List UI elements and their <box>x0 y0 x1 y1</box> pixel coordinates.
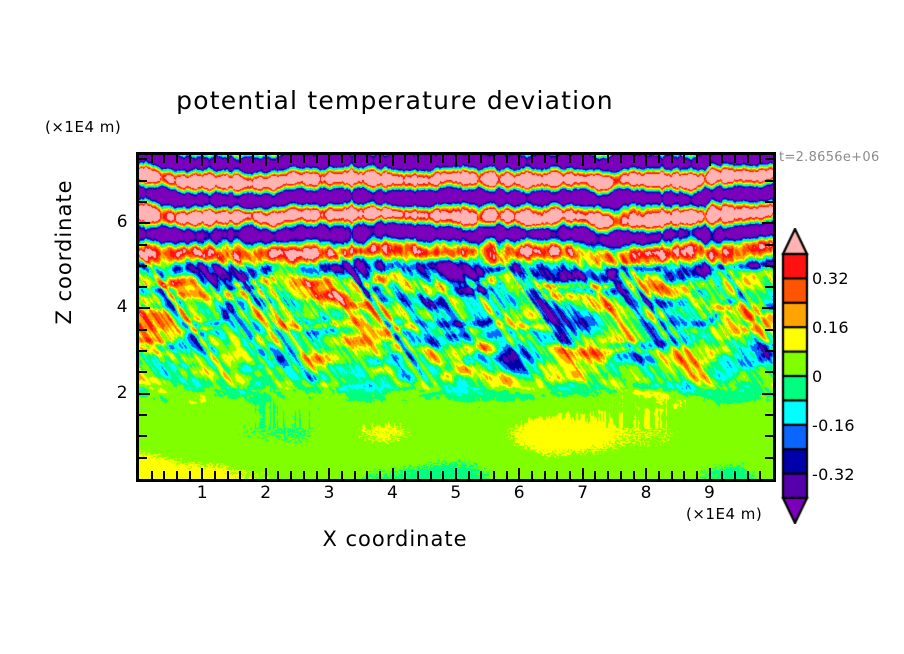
x-minor-tick <box>671 471 673 479</box>
x-top-tick <box>277 155 279 163</box>
x-major-tick <box>455 468 457 479</box>
x-top-tick <box>721 155 723 163</box>
x-minor-tick <box>683 471 685 479</box>
x-top-tick <box>303 155 305 163</box>
x-top-tick <box>265 155 267 166</box>
x-top-tick <box>671 155 673 163</box>
x-major-tick <box>709 468 711 479</box>
x-minor-tick <box>189 471 191 479</box>
x-top-tick <box>328 155 330 166</box>
x-tick-label: 5 <box>436 483 476 503</box>
x-top-tick <box>696 155 698 163</box>
x-top-tick <box>734 155 736 163</box>
x-top-tick <box>506 155 508 163</box>
y-right-tick <box>765 435 773 437</box>
x-tick-label: 8 <box>626 483 666 503</box>
x-minor-tick <box>417 471 419 479</box>
x-major-tick <box>265 468 267 479</box>
x-top-tick <box>404 155 406 163</box>
x-top-tick <box>645 155 647 166</box>
x-top-tick <box>354 155 356 163</box>
y-minor-tick <box>139 350 147 352</box>
x-major-tick <box>645 468 647 479</box>
figure-canvas: potential temperature deviation (×1E4 m)… <box>0 0 904 654</box>
x-top-tick <box>163 155 165 163</box>
x-top-tick <box>252 155 254 163</box>
x-minor-tick <box>696 471 698 479</box>
x-minor-tick <box>620 471 622 479</box>
x-top-tick <box>151 155 153 163</box>
x-top-tick <box>759 155 761 163</box>
y-minor-tick <box>139 180 147 182</box>
x-minor-tick <box>607 471 609 479</box>
colorbar-tick-label: 0.32 <box>812 269 849 288</box>
x-major-tick <box>518 468 520 479</box>
x-major-tick <box>392 468 394 479</box>
y-right-tick <box>765 350 773 352</box>
x-axis-title: X coordinate <box>0 527 790 551</box>
y-right-tick <box>765 457 773 459</box>
x-minor-tick <box>658 471 660 479</box>
x-top-tick <box>290 155 292 163</box>
colorbar-gradient <box>780 228 810 524</box>
x-top-tick <box>468 155 470 163</box>
x-minor-tick <box>176 471 178 479</box>
y-right-tick <box>765 371 773 373</box>
x-top-tick <box>201 155 203 166</box>
colorbar-tick-label: 0 <box>812 367 822 386</box>
x-minor-tick <box>354 471 356 479</box>
x-top-tick <box>582 155 584 166</box>
x-top-tick <box>214 155 216 163</box>
x-top-tick <box>341 155 343 163</box>
x-minor-tick <box>227 471 229 479</box>
x-minor-tick <box>303 471 305 479</box>
y-right-tick <box>765 286 773 288</box>
y-right-tick <box>765 329 773 331</box>
y-minor-tick <box>139 371 147 373</box>
x-minor-tick <box>721 471 723 479</box>
x-minor-tick <box>290 471 292 479</box>
x-top-tick <box>455 155 457 166</box>
x-minor-tick <box>366 471 368 479</box>
plot-area <box>136 152 776 482</box>
x-minor-tick <box>633 471 635 479</box>
x-major-tick <box>328 468 330 479</box>
x-top-tick <box>709 155 711 166</box>
x-minor-tick <box>442 471 444 479</box>
y-minor-tick <box>139 286 147 288</box>
x-top-tick <box>442 155 444 163</box>
x-top-tick <box>176 155 178 163</box>
colorbar <box>780 228 810 524</box>
x-top-tick <box>480 155 482 163</box>
y-axis-title: Z coordinate <box>52 152 76 352</box>
y-minor-tick <box>139 201 147 203</box>
x-top-tick <box>556 155 558 163</box>
x-tick-label: 1 <box>182 483 222 503</box>
y-tick-label: 2 <box>88 383 128 403</box>
x-minor-tick <box>569 471 571 479</box>
y-right-tick <box>765 180 773 182</box>
x-axis-unit-label: (×1E4 m) <box>686 505 762 523</box>
x-top-tick <box>239 155 241 163</box>
x-minor-tick <box>544 471 546 479</box>
x-top-tick <box>633 155 635 163</box>
x-minor-tick <box>430 471 432 479</box>
x-minor-tick <box>734 471 736 479</box>
y-tick-label: 6 <box>88 212 128 232</box>
x-minor-tick <box>556 471 558 479</box>
x-top-tick <box>189 155 191 163</box>
x-tick-label: 4 <box>373 483 413 503</box>
x-minor-tick <box>214 471 216 479</box>
x-top-tick <box>747 155 749 163</box>
y-right-tick <box>765 158 773 160</box>
y-minor-tick <box>139 435 147 437</box>
x-top-tick <box>316 155 318 163</box>
colorbar-tick-label: -0.32 <box>812 465 855 484</box>
y-right-tick <box>762 307 773 309</box>
y-major-tick <box>139 393 150 395</box>
y-right-tick <box>762 222 773 224</box>
x-top-tick <box>544 155 546 163</box>
y-minor-tick <box>139 457 147 459</box>
y-right-tick <box>765 265 773 267</box>
x-top-tick <box>607 155 609 163</box>
x-top-tick <box>683 155 685 163</box>
x-top-tick <box>493 155 495 163</box>
y-right-tick <box>765 201 773 203</box>
x-minor-tick <box>316 471 318 479</box>
x-minor-tick <box>379 471 381 479</box>
x-top-tick <box>417 155 419 163</box>
y-major-tick <box>139 222 150 224</box>
x-tick-label: 2 <box>246 483 286 503</box>
x-top-tick <box>392 155 394 166</box>
x-top-tick <box>620 155 622 163</box>
x-top-tick <box>430 155 432 163</box>
y-major-tick <box>139 307 150 309</box>
x-tick-label: 6 <box>499 483 539 503</box>
x-major-tick <box>201 468 203 479</box>
x-minor-tick <box>531 471 533 479</box>
y-minor-tick <box>139 265 147 267</box>
y-right-tick <box>765 244 773 246</box>
x-top-tick <box>227 155 229 163</box>
x-minor-tick <box>468 471 470 479</box>
colorbar-tick-label: -0.16 <box>812 416 855 435</box>
x-minor-tick <box>341 471 343 479</box>
x-minor-tick <box>506 471 508 479</box>
x-minor-tick <box>404 471 406 479</box>
x-minor-tick <box>151 471 153 479</box>
x-minor-tick <box>594 471 596 479</box>
x-top-tick <box>569 155 571 163</box>
x-top-tick <box>594 155 596 163</box>
x-top-tick <box>366 155 368 163</box>
x-top-tick <box>531 155 533 163</box>
x-minor-tick <box>277 471 279 479</box>
plot-title: potential temperature deviation <box>0 86 790 115</box>
colorbar-tick-label: 0.16 <box>812 318 849 337</box>
x-minor-tick <box>747 471 749 479</box>
x-minor-tick <box>239 471 241 479</box>
y-minor-tick <box>139 414 147 416</box>
x-tick-label: 9 <box>690 483 730 503</box>
x-major-tick <box>582 468 584 479</box>
x-minor-tick <box>252 471 254 479</box>
x-minor-tick <box>759 471 761 479</box>
x-top-tick <box>518 155 520 166</box>
y-right-tick <box>762 393 773 395</box>
x-top-tick <box>658 155 660 163</box>
x-tick-label: 7 <box>563 483 603 503</box>
contour-field <box>139 155 773 479</box>
x-minor-tick <box>493 471 495 479</box>
x-tick-label: 3 <box>309 483 349 503</box>
y-axis-unit-label: (×1E4 m) <box>45 118 121 136</box>
y-minor-tick <box>139 244 147 246</box>
y-tick-label: 4 <box>88 297 128 317</box>
y-minor-tick <box>139 158 147 160</box>
x-top-tick <box>379 155 381 163</box>
simulation-time-label: t=2.8656e+06 <box>779 150 880 165</box>
y-minor-tick <box>139 329 147 331</box>
x-minor-tick <box>480 471 482 479</box>
y-right-tick <box>765 414 773 416</box>
x-minor-tick <box>163 471 165 479</box>
